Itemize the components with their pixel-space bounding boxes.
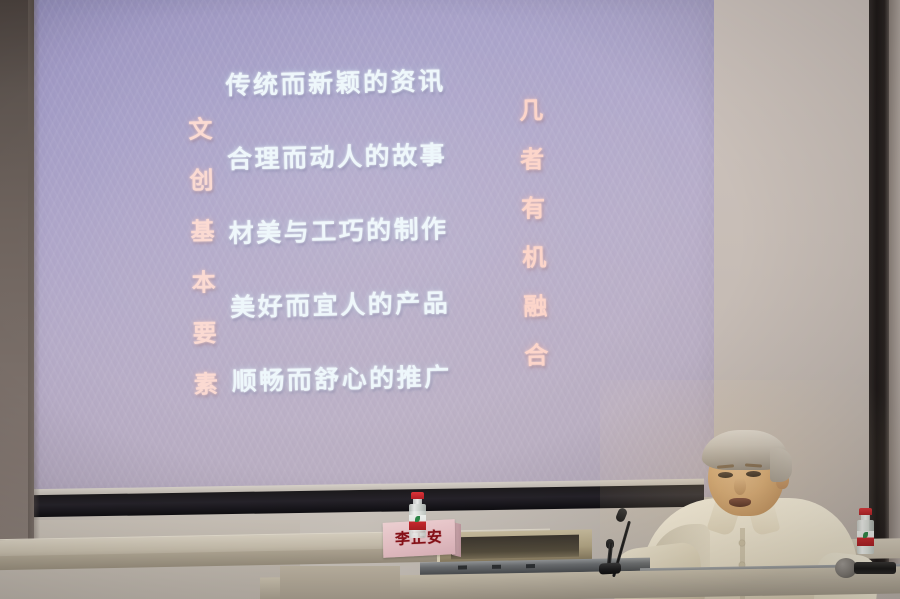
slide-heading-left-char: 创 — [189, 168, 213, 192]
slide-heading-right-char: 者 — [520, 147, 544, 171]
microphone-stem — [607, 543, 613, 565]
speaker-hair-side — [770, 448, 792, 482]
speaker-eye-left — [718, 472, 733, 478]
slide-heading-right: 几 者 有 机 融 合 — [519, 98, 549, 392]
desk-front-panel — [280, 566, 400, 599]
slide-heading-left-char: 文 — [188, 117, 212, 141]
lecture-hall-photo: 文 创 基 本 要 素 传统而新颖的资讯 合理而动人的故事 材美与工巧的制作 美… — [0, 0, 900, 599]
slide-body-line: 美好而宜人的产品 — [230, 290, 470, 320]
slide-body-line: 顺畅而舒心的推广 — [232, 364, 472, 394]
desk-compartment-interior — [451, 535, 579, 560]
slide-body-line: 传统而新颖的资讯 — [225, 68, 465, 98]
projected-slide: 文 创 基 本 要 素 传统而新颖的资讯 合理而动人的故事 材美与工巧的制作 美… — [28, 0, 719, 504]
slide-heading-right-char: 融 — [523, 294, 547, 318]
water-bottle — [409, 492, 426, 538]
slide-body-line: 合理而动人的故事 — [227, 142, 467, 172]
slide-heading-left-char: 素 — [194, 372, 218, 396]
speaker-eye-right — [746, 471, 761, 477]
bottle-body — [409, 504, 426, 538]
slide-heading-left-char: 要 — [193, 321, 217, 345]
slide-heading-left-char: 基 — [190, 219, 214, 243]
projection-screen: 文 创 基 本 要 素 传统而新颖的资讯 合理而动人的故事 材美与工巧的制作 美… — [33, 0, 714, 497]
bottle-cap — [411, 492, 424, 499]
slide-heading-right-char: 几 — [519, 98, 543, 122]
slide-heading-right-char: 有 — [521, 196, 545, 220]
slide-heading-right-char: 合 — [524, 343, 548, 367]
gooseneck-microphone — [596, 543, 622, 575]
speaker-nose — [734, 478, 746, 495]
left-pillar-shadow — [28, 0, 40, 560]
slide-heading-left: 文 创 基 本 要 素 — [188, 117, 218, 423]
speaker-mouth — [729, 498, 751, 507]
slide-body-line: 材美与工巧的制作 — [228, 216, 468, 246]
microphone-handle — [854, 562, 896, 574]
handheld-microphone — [835, 557, 899, 579]
slide-heading-left-char: 本 — [191, 270, 215, 294]
right-pillar-edge — [889, 0, 900, 575]
microphone-base — [599, 562, 621, 574]
slide-body-lines: 传统而新颖的资讯 合理而动人的故事 材美与工巧的制作 美好而宜人的产品 顺畅而舒… — [225, 68, 473, 443]
speaker-shirt-button — [739, 540, 745, 546]
slide-heading-right-char: 机 — [522, 245, 546, 269]
